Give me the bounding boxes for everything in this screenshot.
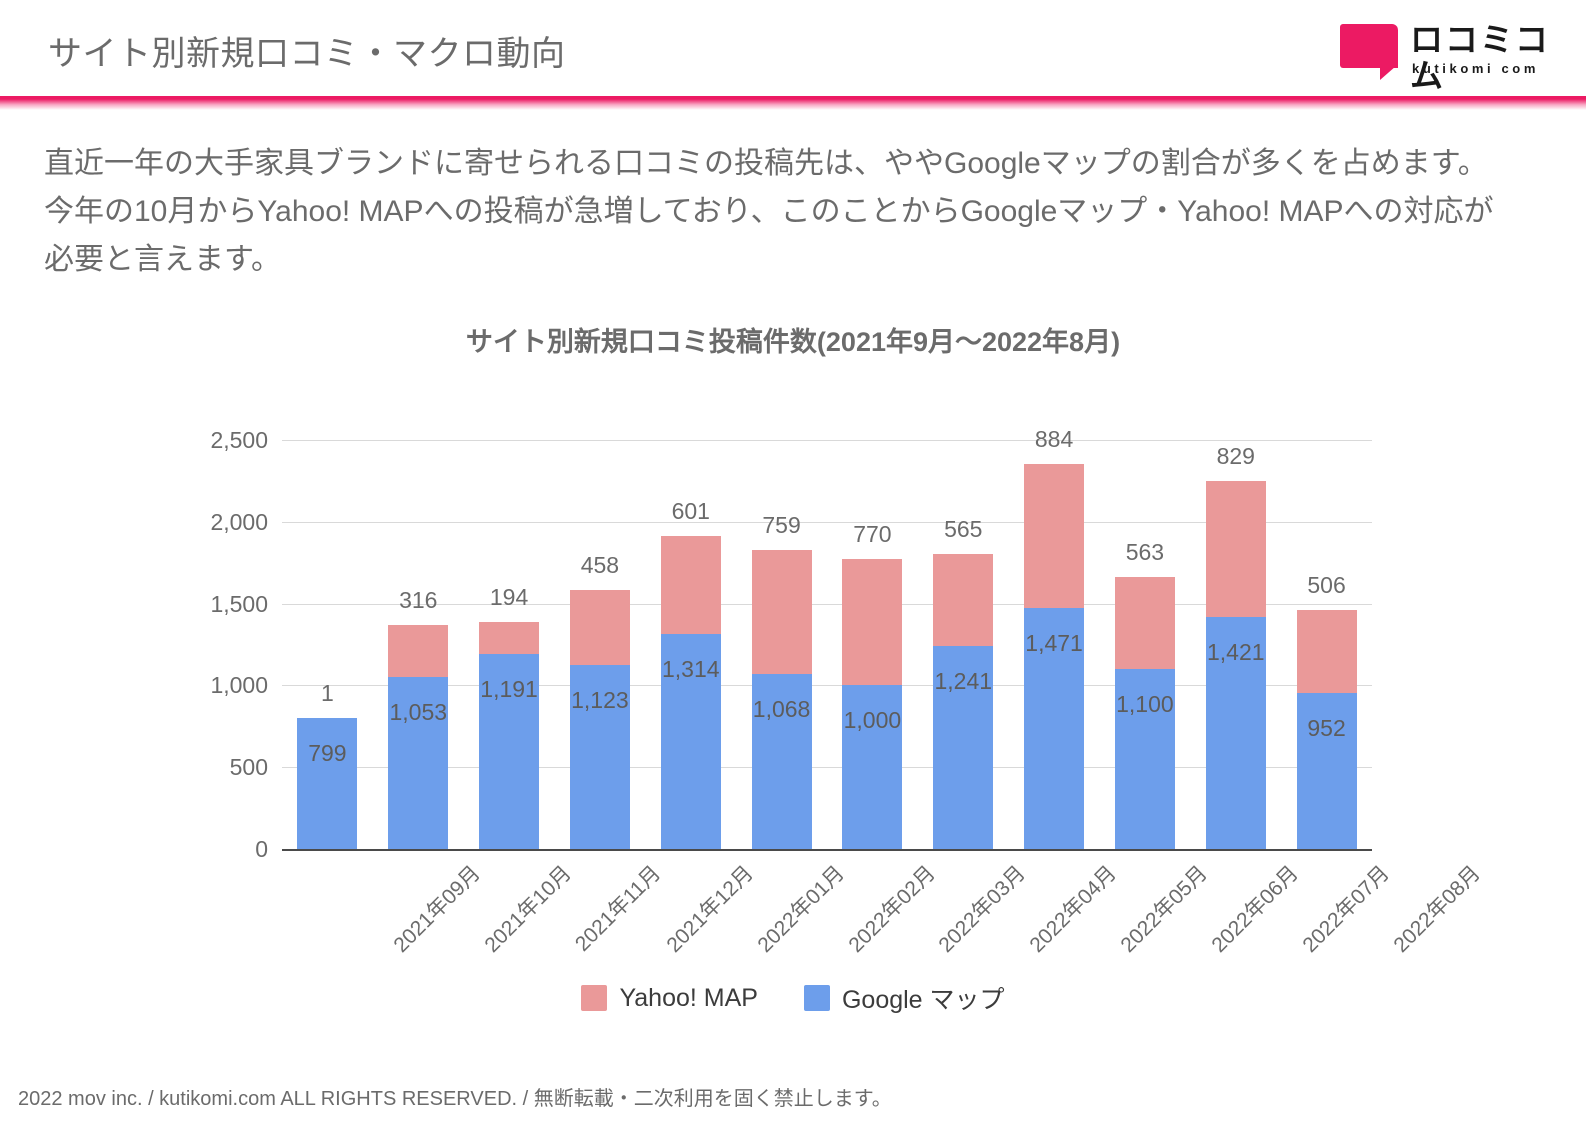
bar-segment-yahoo[interactable] [842, 559, 902, 685]
x-axis-label: 2022年07月 [1295, 858, 1395, 958]
bar-label-yahoo: 829 [1156, 443, 1316, 470]
bar-group[interactable] [388, 625, 448, 849]
legend-label: Yahoo! MAP [619, 984, 758, 1013]
bar-label-google: 1,241 [883, 668, 1043, 695]
bar-label-google: 799 [247, 740, 407, 767]
x-axis-label: 2021年10月 [477, 858, 577, 958]
bar-group[interactable] [933, 554, 993, 849]
legend-swatch [581, 985, 607, 1011]
legend-label: Google マップ [842, 980, 1005, 1016]
bar-label-yahoo: 884 [974, 426, 1134, 453]
x-axis-label: 2022年08月 [1385, 858, 1485, 958]
x-axis-label: 2022年05月 [1113, 858, 1213, 958]
bar-label-google: 952 [1247, 715, 1407, 742]
bar-label-yahoo: 506 [1247, 572, 1407, 599]
y-axis-tick-label: 0 [148, 836, 268, 863]
bar-segment-yahoo[interactable] [388, 625, 448, 677]
lead-paragraph: 直近一年の大手家具ブランドに寄せられる口コミの投稿先は、ややGoogleマップの… [44, 140, 1504, 284]
bar-label-google: 1,100 [1065, 691, 1225, 718]
bar-label-google: 1,314 [611, 656, 771, 683]
x-axis-label: 2022年04月 [1022, 858, 1122, 958]
speech-bubble-tail-icon [1380, 66, 1396, 80]
copyright-footer: 2022 mov inc. / kutikomi.com ALL RIGHTS … [18, 1082, 892, 1111]
logo-subtext: kutikomi com [1412, 61, 1539, 76]
header-divider [0, 96, 1586, 110]
legend-swatch [804, 985, 830, 1011]
bar-label-google: 1,000 [792, 707, 952, 734]
chart-container: サイト別新規口コミ投稿件数(2021年9月〜2022年8月) 05001,000… [0, 320, 1586, 1040]
y-axis-tick-label: 2,500 [148, 427, 268, 454]
bar-group[interactable] [570, 590, 630, 849]
bar-segment-yahoo[interactable] [661, 536, 721, 634]
x-axis-label: 2022年02月 [840, 858, 940, 958]
x-axis-label: 2021年12月 [659, 858, 759, 958]
x-axis-label: 2022年01月 [750, 858, 850, 958]
logo-wordmark: ロコミコム [1410, 22, 1564, 94]
bar-group[interactable] [661, 536, 721, 849]
bar-group[interactable] [479, 622, 539, 849]
brand-logo: ロコミコム kutikomi com [1318, 20, 1564, 82]
page-title: サイト別新規口コミ・マクロ動向 [48, 26, 566, 75]
bar-label-google: 1,421 [1156, 639, 1316, 666]
bar-label-yahoo: 194 [429, 584, 589, 611]
x-axis-label: 2022年03月 [931, 858, 1031, 958]
legend-item[interactable]: Google マップ [804, 980, 1005, 1016]
bar-group[interactable] [297, 718, 357, 849]
x-axis-line [282, 849, 1372, 851]
bar-series: 17993161,0531941,1914581,1236011,3147591… [282, 380, 1372, 849]
bar-label-yahoo: 563 [1065, 539, 1225, 566]
bar-segment-yahoo[interactable] [752, 550, 812, 674]
y-axis-tick-label: 1,500 [148, 591, 268, 618]
bar-label-google: 1,123 [520, 687, 680, 714]
bar-label-google: 1,471 [974, 630, 1134, 657]
chart-title: サイト別新規口コミ投稿件数(2021年9月〜2022年8月) [0, 320, 1586, 359]
legend-item[interactable]: Yahoo! MAP [581, 984, 758, 1013]
bar-group[interactable] [842, 559, 902, 849]
slide-header: サイト別新規口コミ・マクロ動向 ロコミコム kutikomi com [0, 0, 1586, 96]
x-axis-label: 2021年11月 [567, 858, 666, 957]
plot-area: 05001,0001,5002,0002,500 17993161,053194… [282, 380, 1372, 855]
speech-bubble-icon [1340, 24, 1398, 68]
bar-segment-yahoo[interactable] [570, 590, 630, 665]
chart-legend: Yahoo! MAPGoogle マップ [0, 980, 1586, 1016]
x-axis-label: 2021年09月 [386, 858, 486, 958]
bar-segment-yahoo[interactable] [479, 622, 539, 654]
bar-segment-google[interactable] [297, 718, 357, 849]
x-axis-label: 2022年06月 [1204, 858, 1304, 958]
bar-segment-yahoo[interactable] [1024, 464, 1084, 609]
y-axis-tick-label: 2,000 [148, 509, 268, 536]
bar-label-yahoo: 565 [883, 516, 1043, 543]
bar-label-yahoo: 458 [520, 552, 680, 579]
bar-segment-yahoo[interactable] [1297, 610, 1357, 693]
